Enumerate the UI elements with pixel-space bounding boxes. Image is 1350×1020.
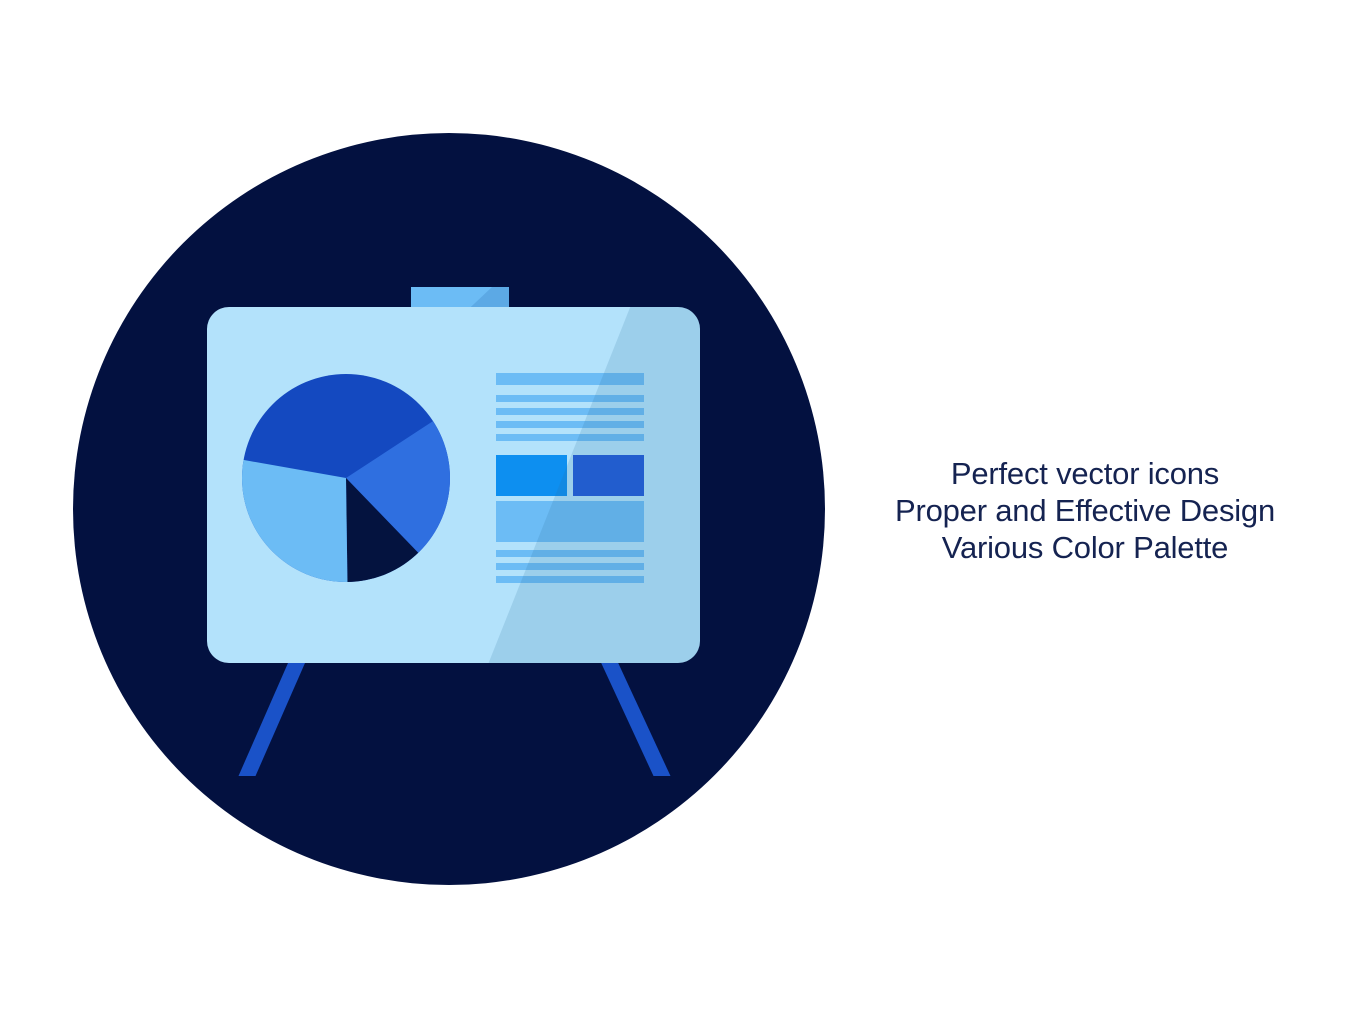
image-canvas: Perfect vector icons Proper and Effectiv…: [0, 0, 1350, 1020]
caption-line-3: Various Color Palette: [845, 529, 1325, 566]
bar-left: [496, 455, 567, 496]
whiteboard-panel: [206, 300, 710, 672]
caption-line-1: Perfect vector icons: [845, 455, 1325, 492]
caption-block: Perfect vector icons Proper and Effectiv…: [845, 455, 1325, 566]
caption-line-2: Proper and Effective Design: [845, 492, 1325, 529]
